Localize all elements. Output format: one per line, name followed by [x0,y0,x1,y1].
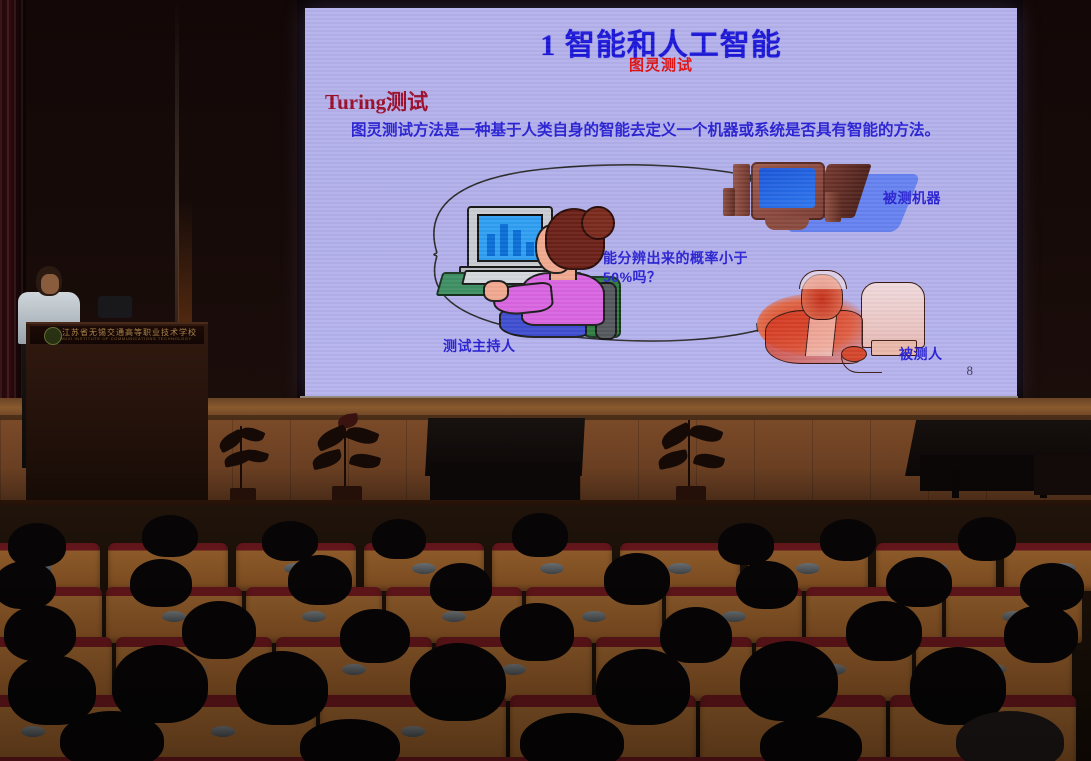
machine-speaker-right [825,192,841,222]
subject-mouse-cord [841,356,882,373]
illustration-moderator [425,198,615,338]
screen-bar-4 [526,242,534,256]
projection-screen[interactable]: 1 智能和人工智能 图灵测试 Turing测试 图灵测试方法是一种基于人类自身的… [305,8,1017,398]
potted-plant-left [214,418,272,506]
screen-bar-2 [500,224,508,256]
potted-plant-right [656,414,728,508]
audience-area [0,505,1091,761]
moderator-monitor-screen [477,214,543,262]
grand-piano-bench [1034,455,1091,495]
label-question: 能分辨出来的概率小于50%吗？ [603,249,753,287]
slide-page-number: 8 [967,363,974,379]
photo-scene: 1 智能和人工智能 图灵测试 Turing测试 图灵测试方法是一种基于人类自身的… [0,0,1091,761]
potted-plant-center [310,412,384,508]
plant-leaf [349,451,381,472]
slide-body-text: 图灵测试方法是一种基于人类自身的智能去定义一个机器或系统是否具有智能的方法。 [323,121,1005,141]
subject-monitor [861,282,925,348]
grand-piano-leg [952,470,959,498]
confidence-monitor [98,296,132,318]
machine-speaker-left [723,188,735,216]
slide-subtitle: 图灵测试 [305,54,1017,75]
screen-bar-1 [487,234,495,256]
audience-shadow-overlay [0,505,1091,761]
plant-leaf [344,423,379,448]
label-test-subject: 被测人 [899,344,943,364]
subject-hair [799,270,847,289]
slide-section-heading: Turing测试 [325,86,428,116]
machine-crt-base [765,218,809,230]
machine-tower [733,164,750,216]
machine-crt-screen [759,168,815,208]
moderator-hand [483,280,509,302]
grand-piano-center-body [430,462,580,502]
podium [26,322,208,502]
plant-leaf [241,447,269,466]
plant-leaf [693,450,726,472]
speaker-face [41,274,59,294]
subject-shirt-lapel [805,316,837,356]
label-moderator: 测试主持人 [443,336,516,356]
moderator-hair-bun [581,206,615,240]
podium-banner-en-text: WUXI INSTITUTE OF COMMUNICATIONS TECHNOL… [60,336,204,341]
plant-leaf [311,449,344,471]
plant-leaf [657,449,689,470]
screen-bar-3 [513,230,521,256]
label-test-machine: 被测机器 [883,188,941,208]
plant-leaf [238,424,265,445]
plant-leaf [688,421,723,446]
